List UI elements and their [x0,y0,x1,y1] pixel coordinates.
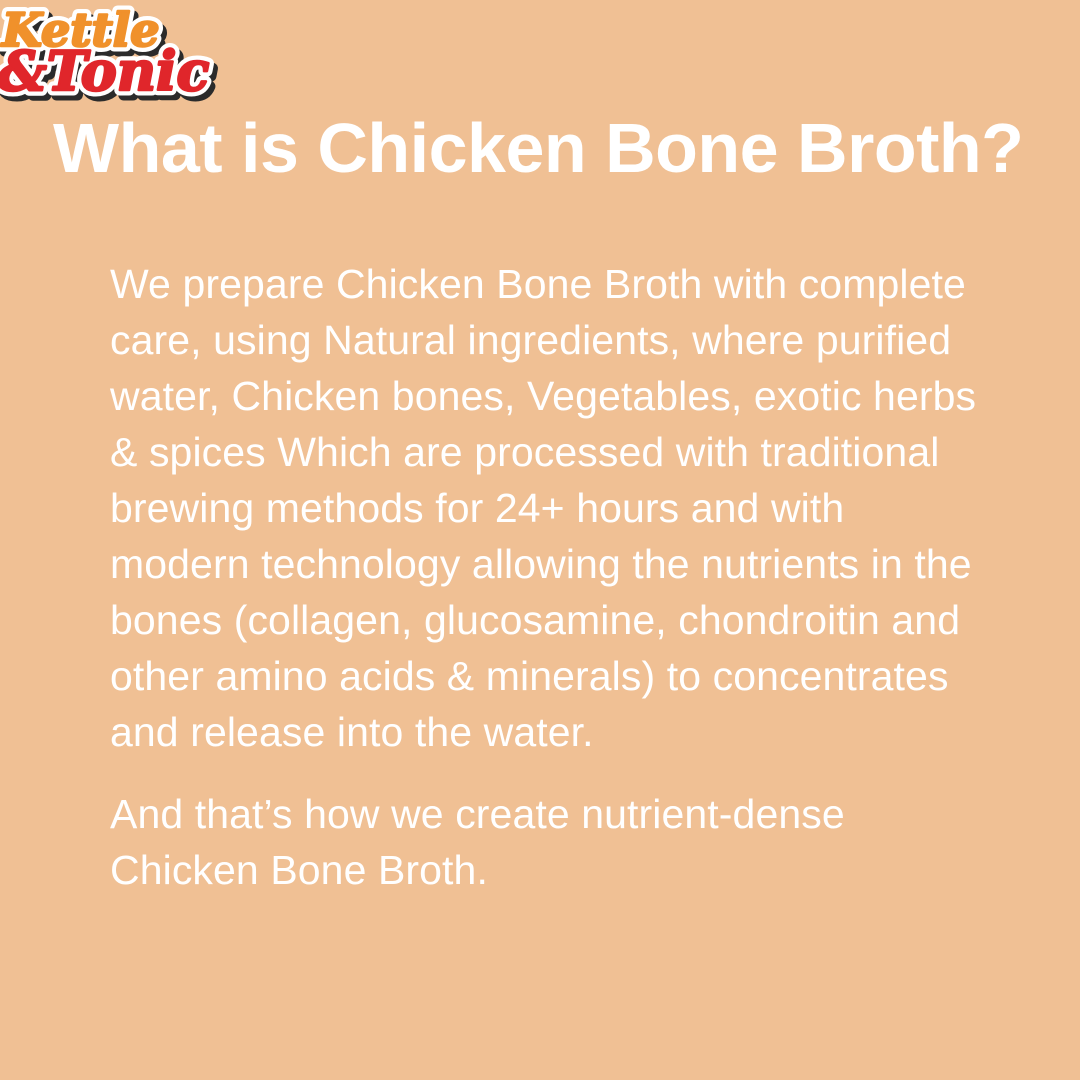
brand-logo[interactable]: Kettle &Tonic [0,2,209,102]
body-paragraph-1: We prepare Chicken Bone Broth with compl… [110,256,990,760]
page-title: What is Chicken Bone Broth? [53,106,1043,190]
body-paragraph-2: And that’s how we create nutrient-dense … [110,786,990,898]
body-copy: We prepare Chicken Bone Broth with compl… [110,256,990,898]
poster-canvas: Kettle &Tonic What is Ch [0,0,1080,1080]
logo-fill-layer [0,3,209,103]
